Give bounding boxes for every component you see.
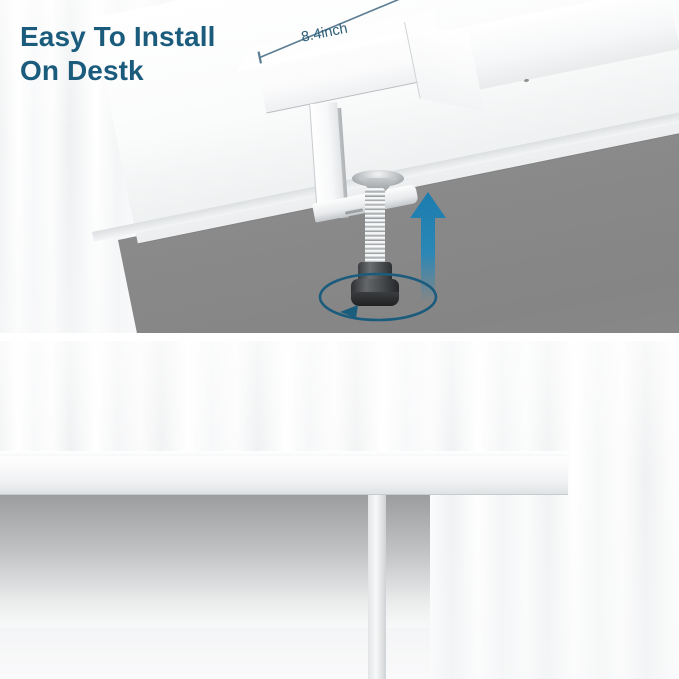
desk-lower-panel xyxy=(0,628,430,679)
panel-install-under-desk: 8.4inch Easy To Install On Destk xyxy=(0,0,679,333)
desk-leg xyxy=(368,494,386,679)
panel-bracket-dimensions: MAX Installation Thickness:1.8inch 1inch… xyxy=(0,341,679,679)
rotation-arrow-icon xyxy=(316,268,440,326)
desk-shadow-region xyxy=(0,494,430,628)
page-title: Easy To Install On Destk xyxy=(20,20,216,89)
panel-divider xyxy=(0,333,679,341)
desk-slab-highlight xyxy=(0,451,568,456)
product-infographic: 8.4inch Easy To Install On Destk xyxy=(0,0,679,679)
desk-slab xyxy=(0,451,568,495)
threaded-screw-shaft xyxy=(365,188,385,270)
